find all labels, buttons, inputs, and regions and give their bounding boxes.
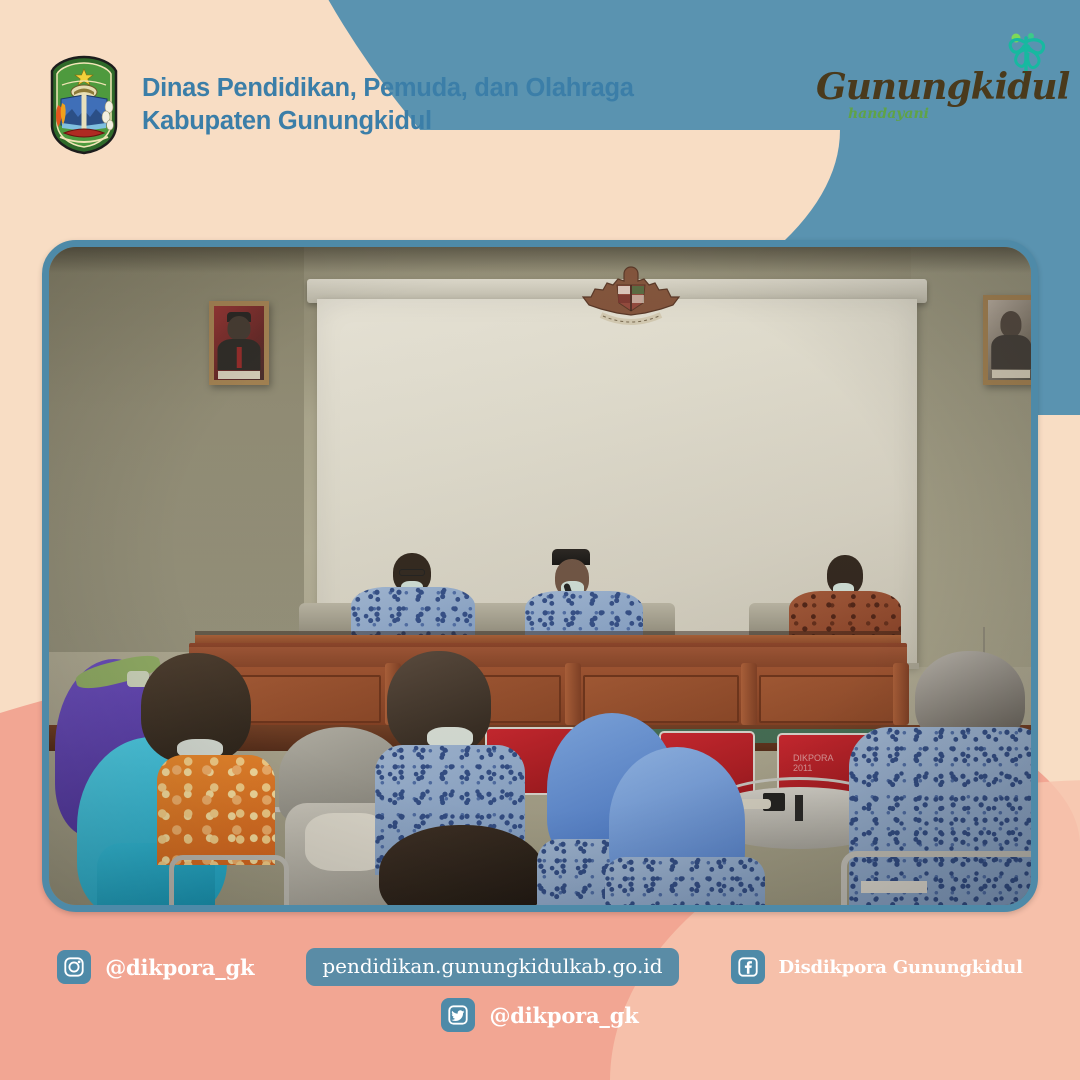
podium-column xyxy=(565,663,581,725)
footer-social-bar: @dikpora_gk pendidikan.gunungkidulkab.go… xyxy=(0,948,1080,1032)
podium-panel xyxy=(231,675,381,723)
ceiling-shadow xyxy=(49,247,1031,273)
page-title: Dinas Pendidikan, Pemuda, dan Olahraga K… xyxy=(142,72,634,137)
instagram-icon[interactable] xyxy=(57,950,91,984)
vice-president-portrait-frame xyxy=(983,295,1038,385)
president-portrait-frame xyxy=(209,301,269,385)
chrome-chair-frame-left xyxy=(169,855,289,912)
meeting-photograph: DIKPORA2011 xyxy=(49,247,1031,905)
garuda-pancasila-emblem-icon xyxy=(577,259,685,329)
facebook-icon[interactable] xyxy=(731,950,765,984)
header: Dinas Pendidikan, Pemuda, dan Olahraga K… xyxy=(46,55,634,155)
footer-row-twitter: @dikpora_gk xyxy=(0,998,1080,1032)
podium-column xyxy=(893,663,909,725)
cabinet-wire-right xyxy=(1035,745,1038,787)
twitter-icon[interactable] xyxy=(441,998,475,1032)
eyeglasses-icon xyxy=(399,569,425,576)
header-title-line1: Dinas Pendidikan, Pemuda, dan Olahraga xyxy=(142,74,634,102)
brand-name: Gunungkidul xyxy=(816,66,1069,108)
header-title-line2: Kabupaten Gunungkidul xyxy=(142,105,634,138)
chrome-chair-plate xyxy=(861,881,927,893)
podium-panel xyxy=(759,675,899,723)
poster-canvas: Dinas Pendidikan, Pemuda, dan Olahraga K… xyxy=(0,0,1080,1080)
website-url-badge[interactable]: pendidikan.gunungkidulkab.go.id xyxy=(306,948,678,986)
gunungkidul-brand-logo: Gunungkidul handayani xyxy=(816,30,1056,140)
chair-object-rod xyxy=(795,795,803,821)
footer-row-primary: @dikpora_gk pendidikan.gunungkidulkab.go… xyxy=(0,948,1080,986)
facebook-page-name[interactable]: Disdikpora Gunungkidul xyxy=(779,957,1023,978)
instagram-handle[interactable]: @dikpora_gk xyxy=(105,955,254,980)
gunungkidul-regency-crest-icon xyxy=(46,55,122,155)
twitter-handle[interactable]: @dikpora_gk xyxy=(489,1003,638,1028)
korpri-uniform xyxy=(605,857,765,912)
orange-batik-shirt xyxy=(157,755,275,865)
photo-card: DIKPORA2011 xyxy=(42,240,1038,912)
podium-column xyxy=(741,663,757,725)
brand-tagline: handayani xyxy=(848,106,929,122)
